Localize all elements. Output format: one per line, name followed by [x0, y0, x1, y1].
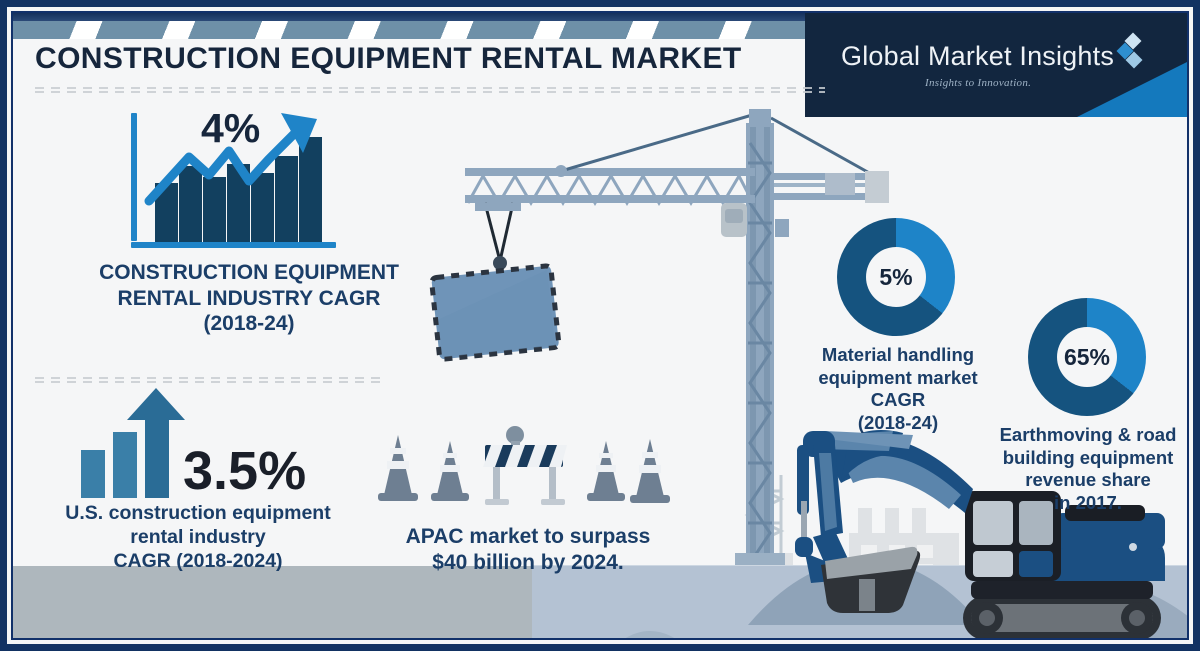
donut-value: 65%	[1028, 298, 1146, 416]
caption-line: in 2017.	[988, 492, 1188, 515]
stat-us-cagr: 3.5% U.S. construction equipment rental …	[43, 403, 353, 573]
caption-line: CAGR	[803, 389, 993, 412]
caption-line: rental industry	[43, 526, 353, 550]
divider-middle	[35, 377, 380, 383]
caption-line: U.S. construction equipment	[43, 502, 353, 526]
page-title: CONSTRUCTION EQUIPMENT RENTAL MARKET	[35, 42, 742, 76]
logo-tagline: Insights to Innovation.	[925, 77, 1031, 89]
cagr-value: 4%	[201, 105, 260, 152]
stat-material-caption: Material handling equipment market CAGR …	[803, 344, 993, 434]
excavator-boom	[795, 430, 973, 583]
stat-us-caption: U.S. construction equipment rental indus…	[43, 502, 353, 573]
caption-line: RENTAL INDUSTRY CAGR	[89, 286, 409, 312]
stat-cagr-caption: CONSTRUCTION EQUIPMENT RENTAL INDUSTRY C…	[89, 260, 409, 337]
us-cagr-value: 3.5%	[183, 440, 306, 502]
bar	[113, 432, 137, 498]
stat-cagr-chart: 4% CONSTRUCTION EQUIPMENT RENTAL INDUSTR…	[131, 113, 381, 337]
caption-line: equipment market	[803, 367, 993, 390]
caption-line: CAGR (2018-2024)	[43, 550, 353, 574]
donut-value: 5%	[837, 218, 955, 336]
stat-apac-caption: APAC market to surpass $40 billion by 20…	[373, 524, 683, 575]
arrow-shaft	[145, 413, 169, 498]
arrow-bars-icon: 3.5%	[43, 403, 353, 498]
logo: Global Market Insights Insights to Innov…	[805, 13, 1187, 117]
diamond-icon	[1117, 35, 1143, 69]
bar-chart-icon: 4%	[131, 113, 346, 248]
caption-line: (2018-24)	[89, 311, 409, 337]
caption-line: (2018-24)	[803, 412, 993, 435]
divider-top	[35, 87, 825, 93]
traffic-cones-icon	[373, 423, 683, 513]
stat-earthmoving: 65% Earthmoving & road building equipmen…	[988, 298, 1188, 514]
logo-name: Global Market Insights	[841, 41, 1114, 72]
infographic-inner: CONSTRUCTION EQUIPMENT RENTAL MARKET Glo…	[11, 11, 1189, 640]
caption-line: revenue share	[988, 469, 1188, 492]
caption-line: $40 billion by 2024.	[373, 550, 683, 576]
background-lattice-tower	[748, 475, 781, 558]
bar	[81, 450, 105, 498]
caption-line: CONSTRUCTION EQUIPMENT	[89, 260, 409, 286]
caption-line: building equipment	[988, 447, 1188, 470]
ground-right-band	[532, 566, 1187, 638]
stat-apac: APAC market to surpass $40 billion by 20…	[373, 423, 683, 575]
caption-line: Material handling	[803, 344, 993, 367]
infographic-frame: CONSTRUCTION EQUIPMENT RENTAL MARKET Glo…	[0, 0, 1200, 651]
stat-material-handling: 5% Material handling equipment market CA…	[803, 218, 993, 434]
caption-line: APAC market to surpass	[373, 524, 683, 550]
donut-chart-earthmoving: 65%	[1028, 298, 1146, 416]
caption-line: Earthmoving & road	[988, 424, 1188, 447]
stat-earthmoving-caption: Earthmoving & road building equipment re…	[988, 424, 1188, 514]
donut-chart-material-handling: 5%	[837, 218, 955, 336]
arrow-head	[127, 388, 185, 420]
